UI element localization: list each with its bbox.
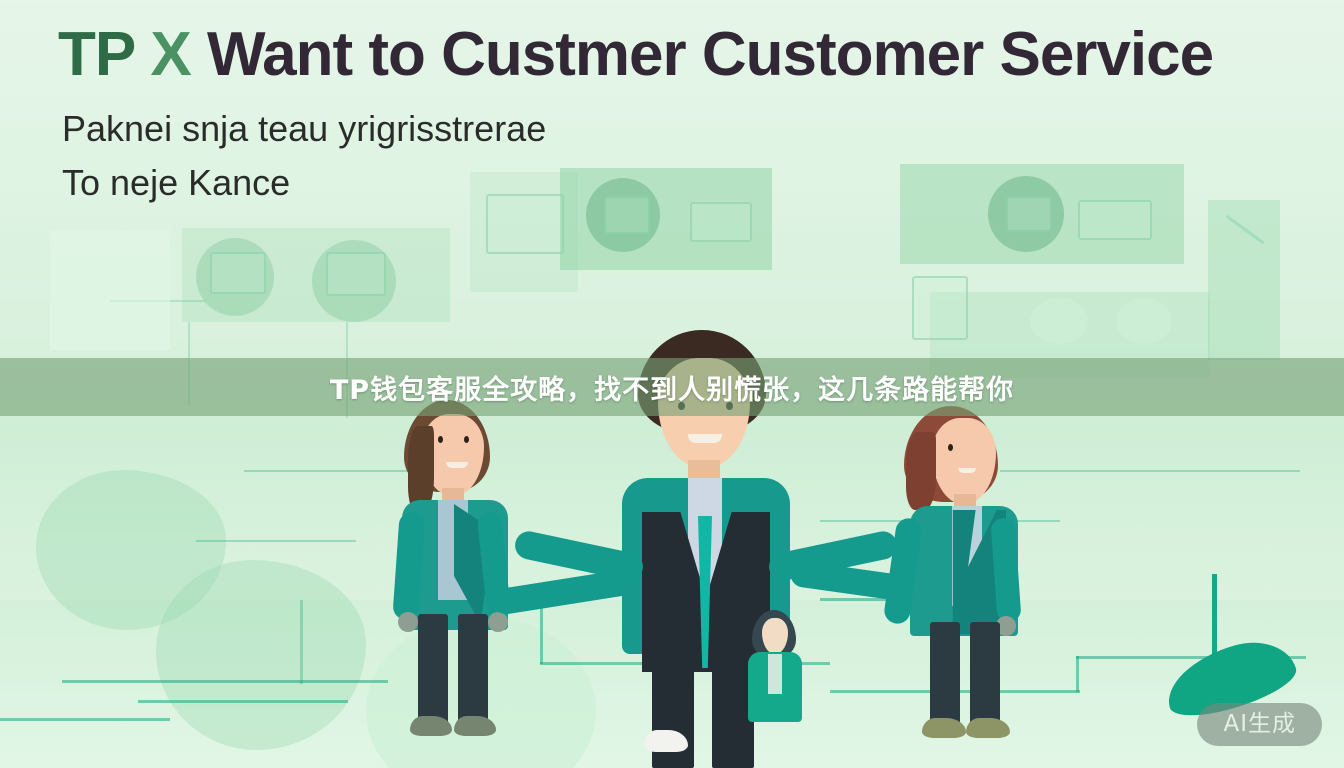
title-banner-text: TP钱包客服全攻略，找不到人别慌张，这几条路能帮你 [330, 368, 1014, 407]
right-person-shoe-right [966, 718, 1010, 738]
ghost-shelf-item-1 [1030, 298, 1088, 344]
figure-left-person [392, 400, 562, 745]
ghost-frame-left-2 [326, 252, 386, 296]
left-person-eye-left [438, 436, 443, 443]
right-person-mouth [958, 468, 976, 473]
ghost-frame-center-2 [690, 202, 752, 242]
left-person-hand-right [488, 612, 508, 632]
right-person-hair-side [906, 432, 936, 510]
right-person-leg-left [930, 622, 960, 726]
right-person-eye-left [948, 444, 953, 451]
ghost-frame-left [210, 252, 266, 294]
overlay-subheadline-line1: Paknei snja teau yrigrisstrerae [62, 108, 1342, 150]
accent-line-1 [62, 680, 388, 683]
headline-prefix-tp: TP [58, 20, 134, 89]
accent-line-13 [0, 718, 170, 721]
accent-line-3 [138, 700, 348, 703]
cover-image: TP X Want to Custmer Customer Service Pa… [0, 0, 1344, 768]
figure-child [748, 610, 808, 730]
center-person-shoe-left [644, 730, 688, 752]
accent-line-7 [1076, 656, 1079, 692]
ghost-frame-right-2 [1078, 200, 1152, 240]
right-person-shoe-left [922, 718, 966, 738]
ghost-panel-right-tall [1208, 200, 1280, 360]
figure-right-person [896, 402, 1066, 744]
left-person-hand-left [398, 612, 418, 632]
ghost-panel-upper-left-light [50, 230, 170, 350]
left-person-mouth [446, 462, 468, 468]
overlay-headline: TP X Want to Custmer Customer Service [58, 24, 1344, 86]
left-person-shoe-left [410, 716, 452, 736]
left-person-shoe-right [454, 716, 496, 736]
title-banner: TP钱包客服全攻略，找不到人别慌张，这几条路能帮你 [0, 358, 1344, 416]
left-person-leg-left [418, 614, 448, 724]
ai-generated-watermark: AI生成 [1197, 703, 1322, 746]
headline-main: Want to Custmer Customer Service [207, 20, 1213, 89]
accent-line-12 [196, 540, 356, 542]
ghost-shelf-frame [912, 276, 968, 340]
ghost-shelf-item-2 [1116, 298, 1172, 344]
accent-line-2 [300, 600, 303, 684]
right-person-leg-right [970, 622, 1000, 726]
headline-prefix-x: X [150, 20, 190, 89]
overlay-subheadline-line2: To neje Kance [62, 162, 1342, 204]
child-shirt [768, 654, 782, 694]
left-person-eye-right [464, 436, 469, 443]
left-person-leg-right [458, 614, 488, 724]
center-person-mouth [688, 434, 722, 443]
